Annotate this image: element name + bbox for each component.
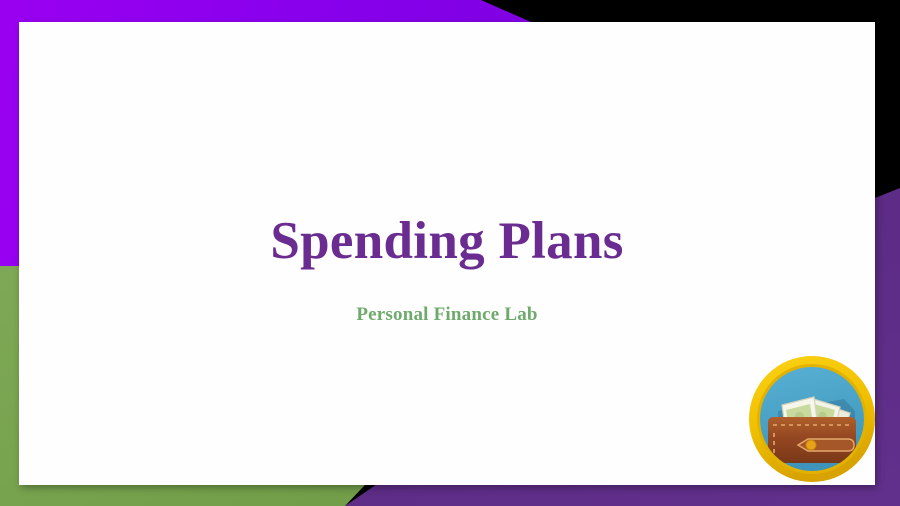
- wallet: [768, 417, 856, 463]
- slide-content-card: Spending Plans Personal Finance Lab: [19, 22, 875, 485]
- slide-subtitle: Personal Finance Lab: [19, 270, 875, 326]
- wallet-badge: [748, 355, 875, 483]
- title-slide: Spending Plans Personal Finance Lab: [0, 0, 900, 506]
- page-title: Spending Plans: [19, 214, 875, 270]
- wallet-snap-button: [806, 440, 816, 450]
- title-block: Spending Plans Personal Finance Lab: [19, 214, 875, 326]
- wallet-with-cash-icon: [748, 355, 875, 483]
